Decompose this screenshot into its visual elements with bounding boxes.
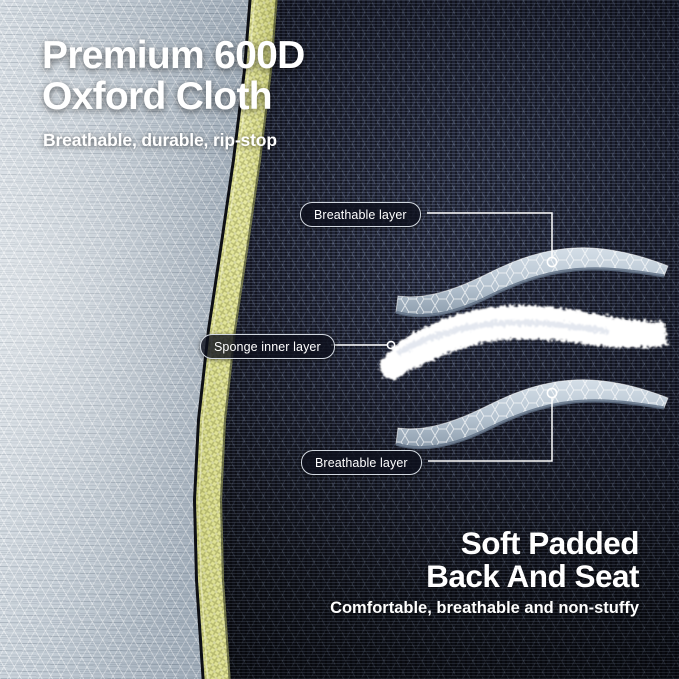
headline-line-1: Soft Padded [461, 525, 639, 561]
callout-label: Breathable layer [314, 208, 407, 222]
callout-breathable-layer-top[interactable]: Breathable layer [300, 202, 421, 227]
callout-sponge-inner-layer[interactable]: Sponge inner layer [200, 334, 335, 359]
bottom-right-subline: Comfortable, breathable and non-stuffy [330, 599, 639, 619]
product-feature-image: Breathable layer Sponge inner layer Brea… [0, 0, 679, 679]
bottom-right-headline: Soft Padded Back And Seat [426, 527, 639, 594]
top-left-headline: Premium 600D Oxford Cloth [42, 35, 305, 118]
headline-line-1: Premium 600D [42, 34, 305, 77]
callout-label: Breathable layer [315, 456, 408, 470]
headline-line-2: Oxford Cloth [42, 76, 305, 117]
top-left-subline: Breathable, durable, rip-stop [43, 130, 277, 151]
callout-label: Sponge inner layer [214, 340, 321, 354]
callout-breathable-layer-bottom[interactable]: Breathable layer [301, 450, 422, 475]
headline-line-2: Back And Seat [426, 560, 639, 593]
